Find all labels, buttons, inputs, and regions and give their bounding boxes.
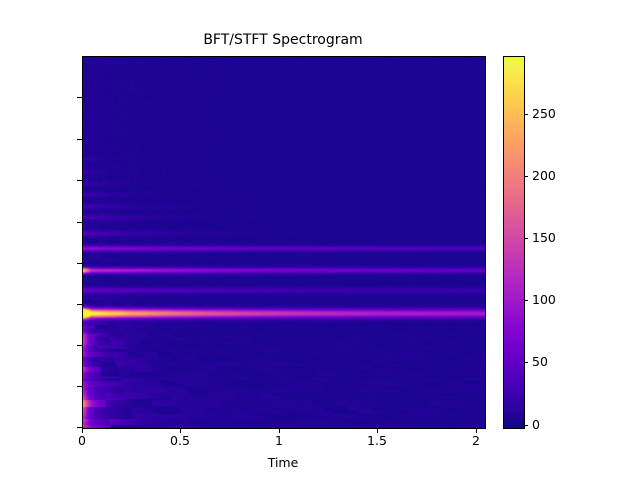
colorbar-tick-mark (524, 176, 528, 177)
spectrogram-image (83, 57, 485, 428)
y-tick-mark (77, 222, 82, 223)
colorbar-ticks: 250200150100500 (524, 56, 584, 427)
figure-canvas: BFT/STFT Spectrogram 00.511.52 Time 2502… (0, 0, 640, 480)
colorbar-tick-label: 100 (532, 294, 556, 306)
colorbar-tick-label: 250 (532, 108, 556, 120)
x-tick-label: 0.5 (170, 435, 190, 447)
colorbar-tick-mark (524, 362, 528, 363)
spectrogram-axes[interactable] (82, 56, 486, 429)
colorbar-tick-label: 200 (532, 170, 556, 182)
colorbar[interactable] (503, 56, 525, 429)
colorbar-tick-mark (524, 300, 528, 301)
colorbar-gradient (504, 57, 524, 428)
x-axis-label: Time (82, 455, 484, 470)
colorbar-tick-mark (524, 114, 528, 115)
y-tick-mark (77, 139, 82, 140)
y-tick-mark (77, 304, 82, 305)
colorbar-tick-mark (524, 238, 528, 239)
y-tick-mark (77, 180, 82, 181)
colorbar-tick-label: 150 (532, 232, 556, 244)
colorbar-tick-label: 50 (532, 356, 548, 368)
colorbar-tick-label: 0 (532, 419, 540, 431)
y-tick-mark (77, 97, 82, 98)
x-tick-label: 1 (275, 435, 283, 447)
chart-title: BFT/STFT Spectrogram (82, 31, 484, 49)
spectrogram-pixels (83, 57, 485, 428)
y-tick-mark (77, 386, 82, 387)
x-tick-label: 0 (78, 435, 86, 447)
y-tick-mark (77, 263, 82, 264)
y-tick-mark (77, 345, 82, 346)
colorbar-tick-mark (524, 425, 528, 426)
x-tick-label: 1.5 (367, 435, 387, 447)
x-tick-label: 2 (472, 435, 480, 447)
